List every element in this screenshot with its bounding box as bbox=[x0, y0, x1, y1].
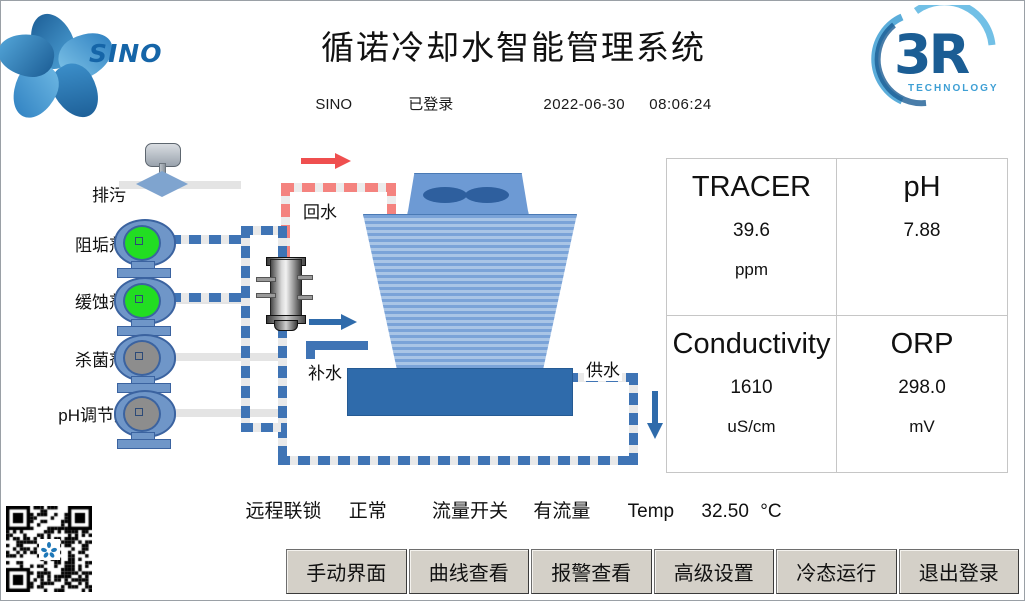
pipe-return-top bbox=[281, 183, 396, 192]
pipe-return-right bbox=[387, 183, 396, 217]
pump-ph-adjuster[interactable] bbox=[114, 390, 176, 442]
pump-biocide[interactable] bbox=[114, 334, 176, 386]
login-status: 已登录 bbox=[408, 93, 453, 114]
cooling-tower-fan-blade-right-icon bbox=[465, 187, 509, 203]
metric-unit: ppm bbox=[735, 260, 768, 280]
current-user: SINO bbox=[315, 96, 352, 113]
valve-left-cone-icon bbox=[136, 171, 162, 197]
hx-nozzle-right-lower-icon bbox=[297, 295, 313, 300]
metric-name: ORP bbox=[891, 328, 954, 361]
metric-value: 1610 bbox=[730, 377, 772, 399]
label-scale-inhibitor: 阻垢剂 bbox=[16, 231, 126, 256]
label-biocide: 杀菌剂 bbox=[16, 346, 126, 371]
3r-tagline: TECHNOLOGY bbox=[908, 83, 999, 94]
metric-name: Conductivity bbox=[673, 328, 831, 361]
button-alarm-view[interactable]: 报警查看 bbox=[531, 549, 652, 594]
pump-center-dot-icon bbox=[135, 408, 143, 416]
button-logout[interactable]: 退出登录 bbox=[899, 549, 1020, 594]
system-date: 2022-06-30 bbox=[543, 96, 625, 113]
label-ph-adjuster: pH调节剂 bbox=[11, 401, 131, 426]
cooling-tower-basin bbox=[347, 368, 573, 416]
application-window: SINO 循诺冷却水智能管理系统 SINO 已登录 2022-06-30 08:… bbox=[0, 0, 1025, 601]
button-cold-run[interactable]: 冷态运行 bbox=[776, 549, 897, 594]
pipe-loop-right bbox=[629, 373, 638, 465]
hx-nozzle-left-lower-icon bbox=[256, 293, 276, 298]
label-corrosion-inhibitor: 缓蚀剂 bbox=[16, 288, 126, 313]
temp-unit: °C bbox=[760, 501, 781, 523]
metric-name: pH bbox=[903, 171, 940, 204]
pump-center-dot-icon bbox=[135, 295, 143, 303]
3r-technology-logo: 3R TECHNOLOGY bbox=[864, 5, 1014, 110]
pipe-biocide-run bbox=[169, 353, 279, 361]
system-time: 08:06:24 bbox=[649, 96, 711, 113]
remote-interlock-label: 远程联锁 bbox=[245, 496, 321, 523]
label-makeup-water: 补水 bbox=[306, 359, 344, 384]
heat-exchanger[interactable] bbox=[265, 251, 305, 331]
temp-value: 32.50 bbox=[701, 501, 749, 523]
flow-switch-label: 流量开关 bbox=[432, 496, 508, 523]
metric-card-tracer: TRACER 39.6 ppm bbox=[667, 159, 837, 316]
metric-unit: mV bbox=[909, 417, 935, 437]
metric-value: 298.0 bbox=[898, 377, 946, 399]
pipe-loop-left bbox=[241, 226, 250, 431]
pipe-corrosion-dosing bbox=[169, 293, 247, 302]
metric-name: TRACER bbox=[692, 171, 811, 204]
pump-center-dot-icon bbox=[135, 352, 143, 360]
metric-unit: uS/cm bbox=[727, 417, 775, 437]
equipment-label-column: 排污 阻垢剂 缓蚀剂 杀菌剂 pH调节剂 bbox=[11, 1, 126, 441]
blowdown-valve[interactable] bbox=[127, 143, 197, 198]
hx-bottom-cap-icon bbox=[274, 320, 298, 331]
label-blowdown: 排污 bbox=[16, 181, 126, 206]
pipe-ph-run bbox=[169, 409, 279, 417]
button-manual-interface[interactable]: 手动界面 bbox=[286, 549, 407, 594]
pipe-makeup-run bbox=[306, 341, 368, 350]
3r-wordmark: 3R bbox=[894, 23, 967, 86]
qr-code[interactable] bbox=[6, 506, 92, 592]
hx-shell-icon bbox=[270, 259, 302, 323]
qr-center-logo bbox=[39, 539, 60, 560]
label-supply-water: 供水 bbox=[584, 356, 622, 381]
pump-base-icon bbox=[117, 439, 171, 449]
flow-switch-value: 有流量 bbox=[533, 496, 590, 523]
measurement-panel: TRACER 39.6 ppm pH 7.88 Conductivity 161… bbox=[666, 158, 1008, 473]
bottom-button-bar: 手动界面 曲线查看 报警查看 高级设置 冷态运行 退出登录 bbox=[286, 549, 1019, 594]
pipe-loop-lower bbox=[241, 423, 287, 432]
button-advanced-settings[interactable]: 高级设置 bbox=[654, 549, 775, 594]
pipe-scale-dosing bbox=[169, 235, 247, 244]
metric-value: 7.88 bbox=[904, 220, 941, 242]
metric-card-ph: pH 7.88 bbox=[837, 159, 1007, 316]
hx-nozzle-left-upper-icon bbox=[256, 277, 276, 282]
temp-label: Temp bbox=[628, 501, 674, 523]
bottom-status-bar: 远程联锁 正常 流量开关 有流量 Temp 32.50 °C bbox=[1, 496, 1025, 523]
button-curve-view[interactable]: 曲线查看 bbox=[409, 549, 530, 594]
hx-nozzle-right-upper-icon bbox=[297, 275, 313, 280]
pump-scale-inhibitor[interactable] bbox=[114, 219, 176, 271]
label-return-water: 回水 bbox=[301, 198, 339, 223]
metric-value: 39.6 bbox=[733, 220, 770, 242]
metric-card-conductivity: Conductivity 1610 uS/cm bbox=[667, 316, 837, 473]
pump-corrosion-inhibitor[interactable] bbox=[114, 277, 176, 329]
cooling-tower-fan-blade-left-icon bbox=[423, 187, 467, 203]
metric-card-orp: ORP 298.0 mV bbox=[837, 316, 1007, 473]
valve-right-cone-icon bbox=[162, 171, 188, 197]
pump-center-dot-icon bbox=[135, 237, 143, 245]
remote-interlock-value: 正常 bbox=[349, 496, 387, 523]
cooling-tower-body bbox=[363, 214, 577, 371]
pipe-loop-bottom bbox=[278, 456, 638, 465]
